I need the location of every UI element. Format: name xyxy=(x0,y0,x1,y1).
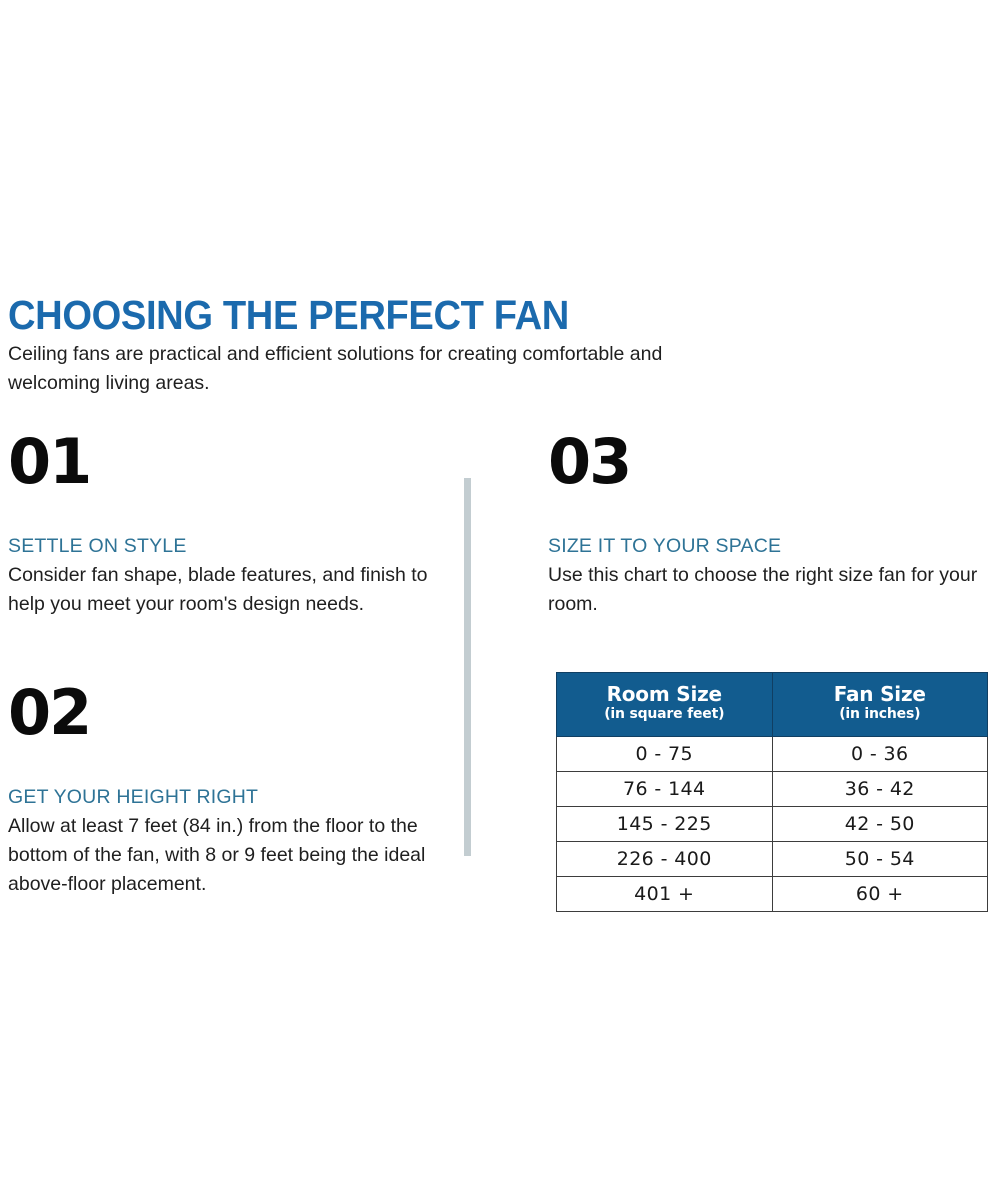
step-body: Allow at least 7 feet (84 in.) from the … xyxy=(8,812,428,899)
cell-fan-size: 60 + xyxy=(772,877,988,912)
step-number: 01 xyxy=(8,430,428,493)
column-header-room-size: Room Size (in square feet) xyxy=(557,673,773,737)
fan-buying-guide-page: { "header": { "title": "CHOOSING THE PER… xyxy=(0,0,1000,1200)
table-header-row: Room Size (in square feet) Fan Size (in … xyxy=(557,673,988,737)
cell-room-size: 226 - 400 xyxy=(557,842,773,877)
table-row: 0 - 75 0 - 36 xyxy=(557,737,988,772)
column-divider xyxy=(464,478,471,856)
table-head: Room Size (in square feet) Fan Size (in … xyxy=(557,673,988,737)
table-row: 76 - 144 36 - 42 xyxy=(557,772,988,807)
column-header-sub-label: (in square feet) xyxy=(561,706,768,723)
step-number: 02 xyxy=(8,681,428,744)
fan-size-table: Room Size (in square feet) Fan Size (in … xyxy=(556,672,988,912)
step-heading: GET YOUR HEIGHT RIGHT xyxy=(8,786,428,809)
column-header-main-label: Room Size xyxy=(561,683,768,706)
column-header-sub-label: (in inches) xyxy=(777,706,984,723)
cell-fan-size: 36 - 42 xyxy=(772,772,988,807)
table-body: 0 - 75 0 - 36 76 - 144 36 - 42 145 - 225… xyxy=(557,737,988,912)
table-row: 145 - 225 42 - 50 xyxy=(557,807,988,842)
cell-fan-size: 42 - 50 xyxy=(772,807,988,842)
cell-room-size: 401 + xyxy=(557,877,773,912)
step-01: 01 SETTLE ON STYLE Consider fan shape, b… xyxy=(8,430,428,619)
column-header-fan-size: Fan Size (in inches) xyxy=(772,673,988,737)
cell-room-size: 145 - 225 xyxy=(557,807,773,842)
table-row: 401 + 60 + xyxy=(557,877,988,912)
step-body: Use this chart to choose the right size … xyxy=(548,561,998,619)
steps-right-column: 03 SIZE IT TO YOUR SPACE Use this chart … xyxy=(548,430,998,619)
page-title: CHOOSING THE PERFECT FAN xyxy=(8,295,569,336)
fan-size-table-wrapper: Room Size (in square feet) Fan Size (in … xyxy=(556,672,988,912)
step-heading: SIZE IT TO YOUR SPACE xyxy=(548,535,998,558)
cell-fan-size: 50 - 54 xyxy=(772,842,988,877)
cell-room-size: 0 - 75 xyxy=(557,737,773,772)
column-header-main-label: Fan Size xyxy=(777,683,984,706)
steps-left-column: 01 SETTLE ON STYLE Consider fan shape, b… xyxy=(8,430,428,899)
cell-fan-size: 0 - 36 xyxy=(772,737,988,772)
page-intro-text: Ceiling fans are practical and efficient… xyxy=(8,340,698,398)
step-heading: SETTLE ON STYLE xyxy=(8,535,428,558)
step-03: 03 SIZE IT TO YOUR SPACE Use this chart … xyxy=(548,430,998,619)
step-body: Consider fan shape, blade features, and … xyxy=(8,561,428,619)
step-number: 03 xyxy=(548,430,998,493)
step-02: 02 GET YOUR HEIGHT RIGHT Allow at least … xyxy=(8,681,428,899)
cell-room-size: 76 - 144 xyxy=(557,772,773,807)
table-row: 226 - 400 50 - 54 xyxy=(557,842,988,877)
